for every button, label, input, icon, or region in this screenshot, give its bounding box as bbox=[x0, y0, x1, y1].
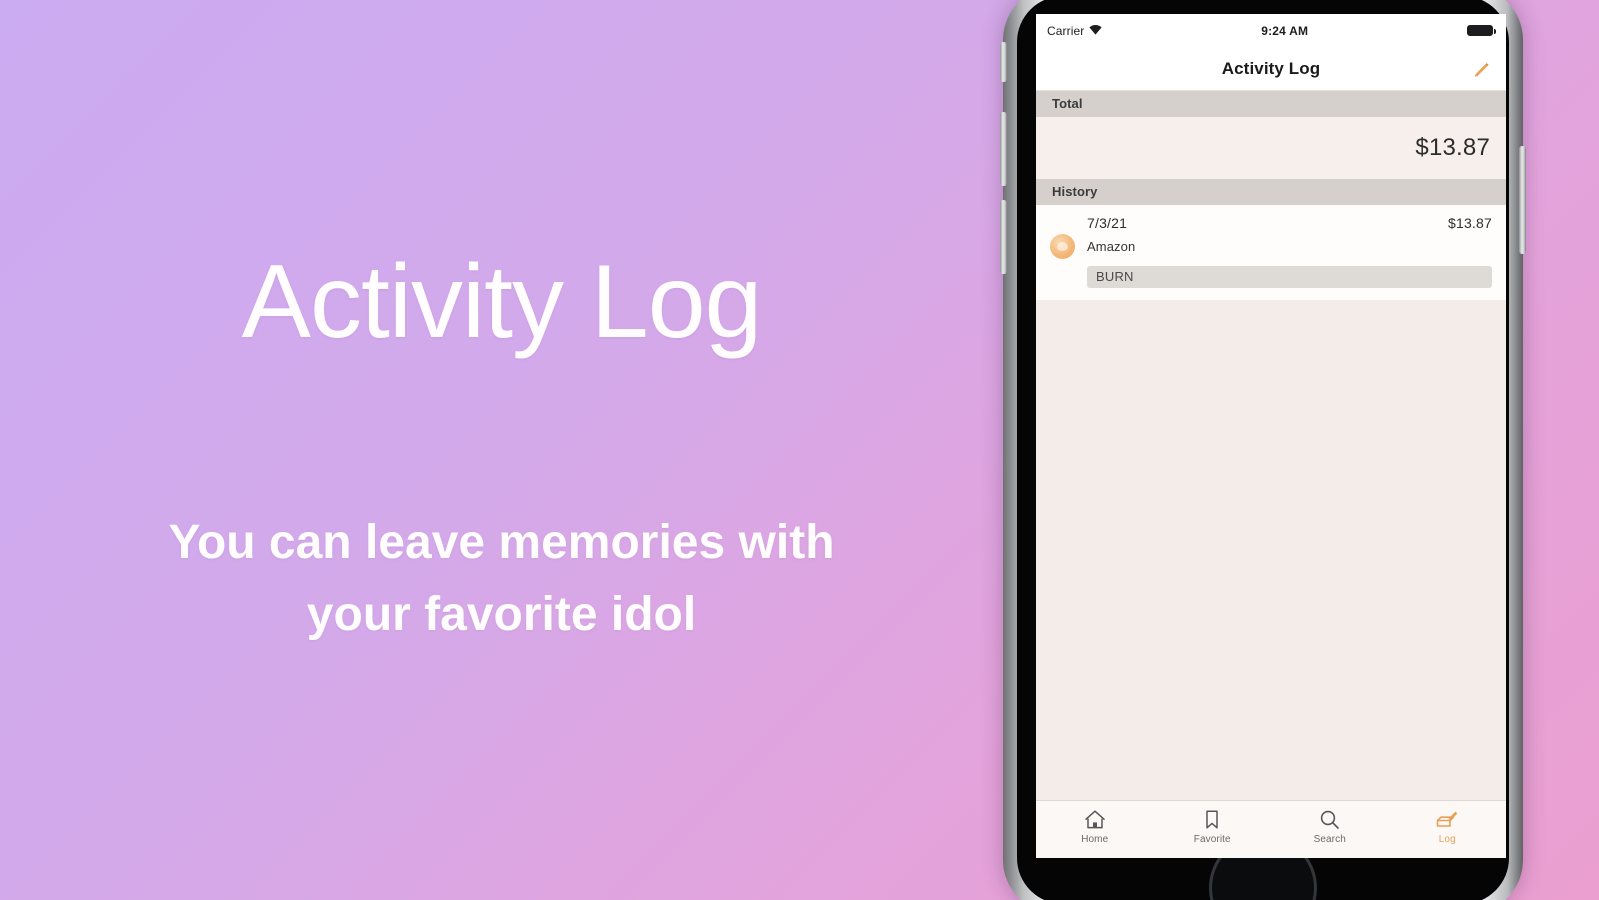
nav-bar: Activity Log bbox=[1036, 47, 1506, 91]
promo-subtitle: You can leave memories with your favorit… bbox=[122, 507, 882, 651]
status-bar-left: Carrier bbox=[1047, 24, 1102, 38]
bookmark-icon bbox=[1204, 808, 1220, 831]
total-row[interactable]: $13.87 bbox=[1036, 117, 1506, 179]
merchant-avatar-icon bbox=[1050, 234, 1075, 259]
log-edit-icon bbox=[1435, 808, 1459, 831]
history-item-merchant: Amazon bbox=[1087, 239, 1135, 254]
volume-down-button[interactable] bbox=[1000, 200, 1007, 274]
history-list-item[interactable]: 7/3/21 $13.87 Amazon BURN bbox=[1036, 205, 1506, 300]
history-item-mid-row: Amazon bbox=[1050, 234, 1492, 259]
home-icon bbox=[1084, 808, 1106, 831]
status-bar-time: 9:24 AM bbox=[1102, 24, 1467, 38]
pencil-edit-icon[interactable] bbox=[1468, 56, 1494, 82]
history-item-amount: $13.87 bbox=[1448, 215, 1492, 231]
status-bar: Carrier 9:24 AM bbox=[1036, 14, 1506, 47]
history-item-note[interactable]: BURN bbox=[1087, 266, 1492, 288]
tab-favorite[interactable]: Favorite bbox=[1154, 808, 1272, 845]
history-empty-space bbox=[1036, 300, 1506, 800]
tab-home[interactable]: Home bbox=[1036, 808, 1154, 845]
section-header-history: History bbox=[1036, 179, 1506, 205]
tab-search-label: Search bbox=[1314, 834, 1346, 845]
screen-content: Total $13.87 History 7/3/21 $13.87 Amazo… bbox=[1036, 91, 1506, 858]
promo-stage: Activity Log You can leave memories with… bbox=[0, 0, 1599, 900]
tab-log-label: Log bbox=[1439, 834, 1456, 845]
silent-switch-button[interactable] bbox=[1000, 42, 1007, 82]
tab-log[interactable]: Log bbox=[1389, 808, 1507, 845]
tab-bar: Home Favorite bbox=[1036, 800, 1506, 858]
history-item-top-row: 7/3/21 $13.87 bbox=[1050, 215, 1492, 231]
history-item-date: 7/3/21 bbox=[1087, 215, 1127, 231]
tab-favorite-label: Favorite bbox=[1194, 834, 1231, 845]
battery-full-icon bbox=[1467, 25, 1493, 36]
section-header-total: Total bbox=[1036, 91, 1506, 117]
search-icon bbox=[1319, 808, 1340, 831]
promo-copy-panel: Activity Log You can leave memories with… bbox=[0, 0, 1003, 900]
volume-up-button[interactable] bbox=[1000, 112, 1007, 186]
phone-device-mockup: Carrier 9:24 AM Activity Log bbox=[1003, 0, 1523, 900]
status-bar-right bbox=[1467, 25, 1493, 36]
phone-screen: Carrier 9:24 AM Activity Log bbox=[1036, 14, 1506, 858]
power-button[interactable] bbox=[1519, 146, 1526, 254]
total-amount: $13.87 bbox=[1415, 134, 1490, 162]
tab-search[interactable]: Search bbox=[1271, 808, 1389, 845]
nav-title: Activity Log bbox=[1222, 59, 1321, 79]
carrier-label: Carrier bbox=[1047, 24, 1084, 38]
promo-title: Activity Log bbox=[242, 248, 762, 357]
tab-home-label: Home bbox=[1081, 834, 1108, 845]
wifi-icon bbox=[1089, 24, 1102, 38]
